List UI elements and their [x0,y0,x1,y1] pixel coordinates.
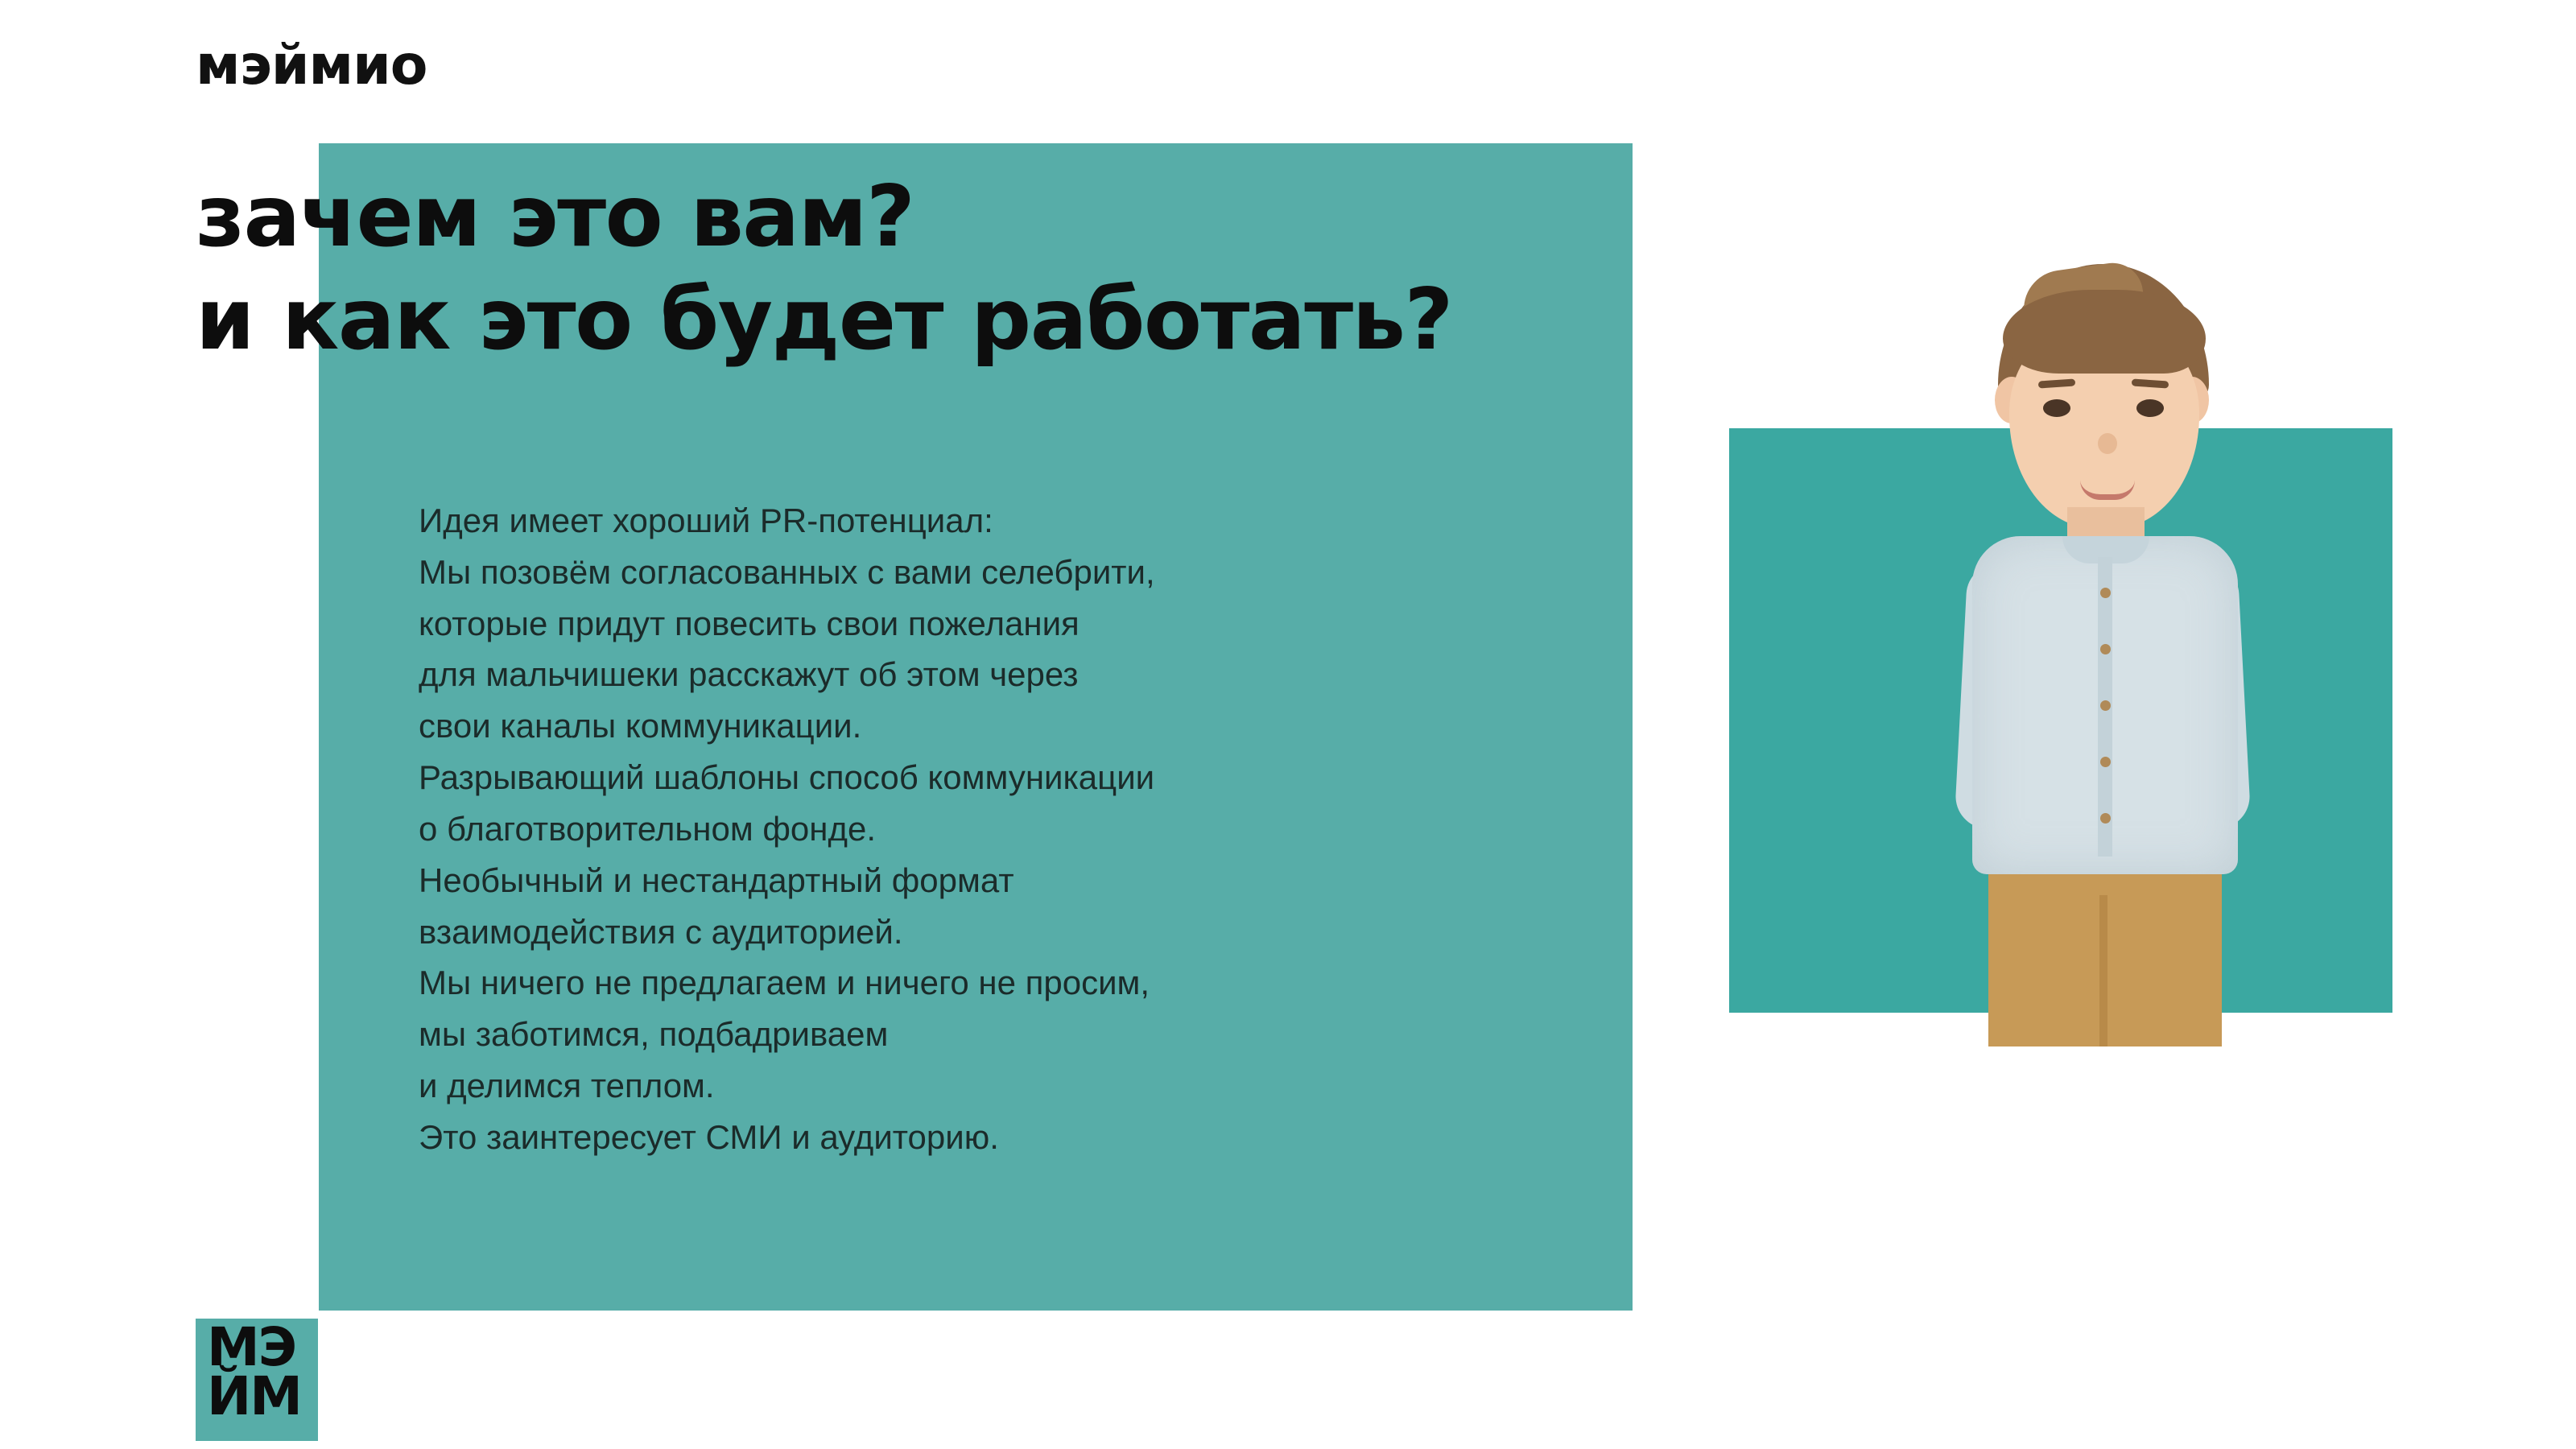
eye-left-shape [2043,399,2070,417]
boy-photo [1876,242,2326,1046]
brand-wordmark: мэймио [196,34,427,97]
logo-mark: МЭ ЙМ [196,1319,318,1441]
body-paragraph: Идея имеет хороший PR-потенциал: Мы позо… [419,495,1642,1163]
fringe-shape [2003,290,2206,374]
button-1-shape [2100,588,2111,598]
boy-illustration [1876,242,2326,1046]
logo-mark-text: МЭ ЙМ [207,1323,301,1421]
button-3-shape [2100,700,2111,711]
page-title: зачем это вам? и как это будет работать? [196,165,1886,371]
nose-shape [2098,433,2117,454]
slide-canvas: мэймио зачем это вам? и как это будет ра… [0,0,2576,1449]
trousers-shape [1988,847,2222,1046]
button-5-shape [2100,813,2111,824]
eye-right-shape [2136,399,2164,417]
button-2-shape [2100,644,2111,654]
button-4-shape [2100,757,2111,767]
